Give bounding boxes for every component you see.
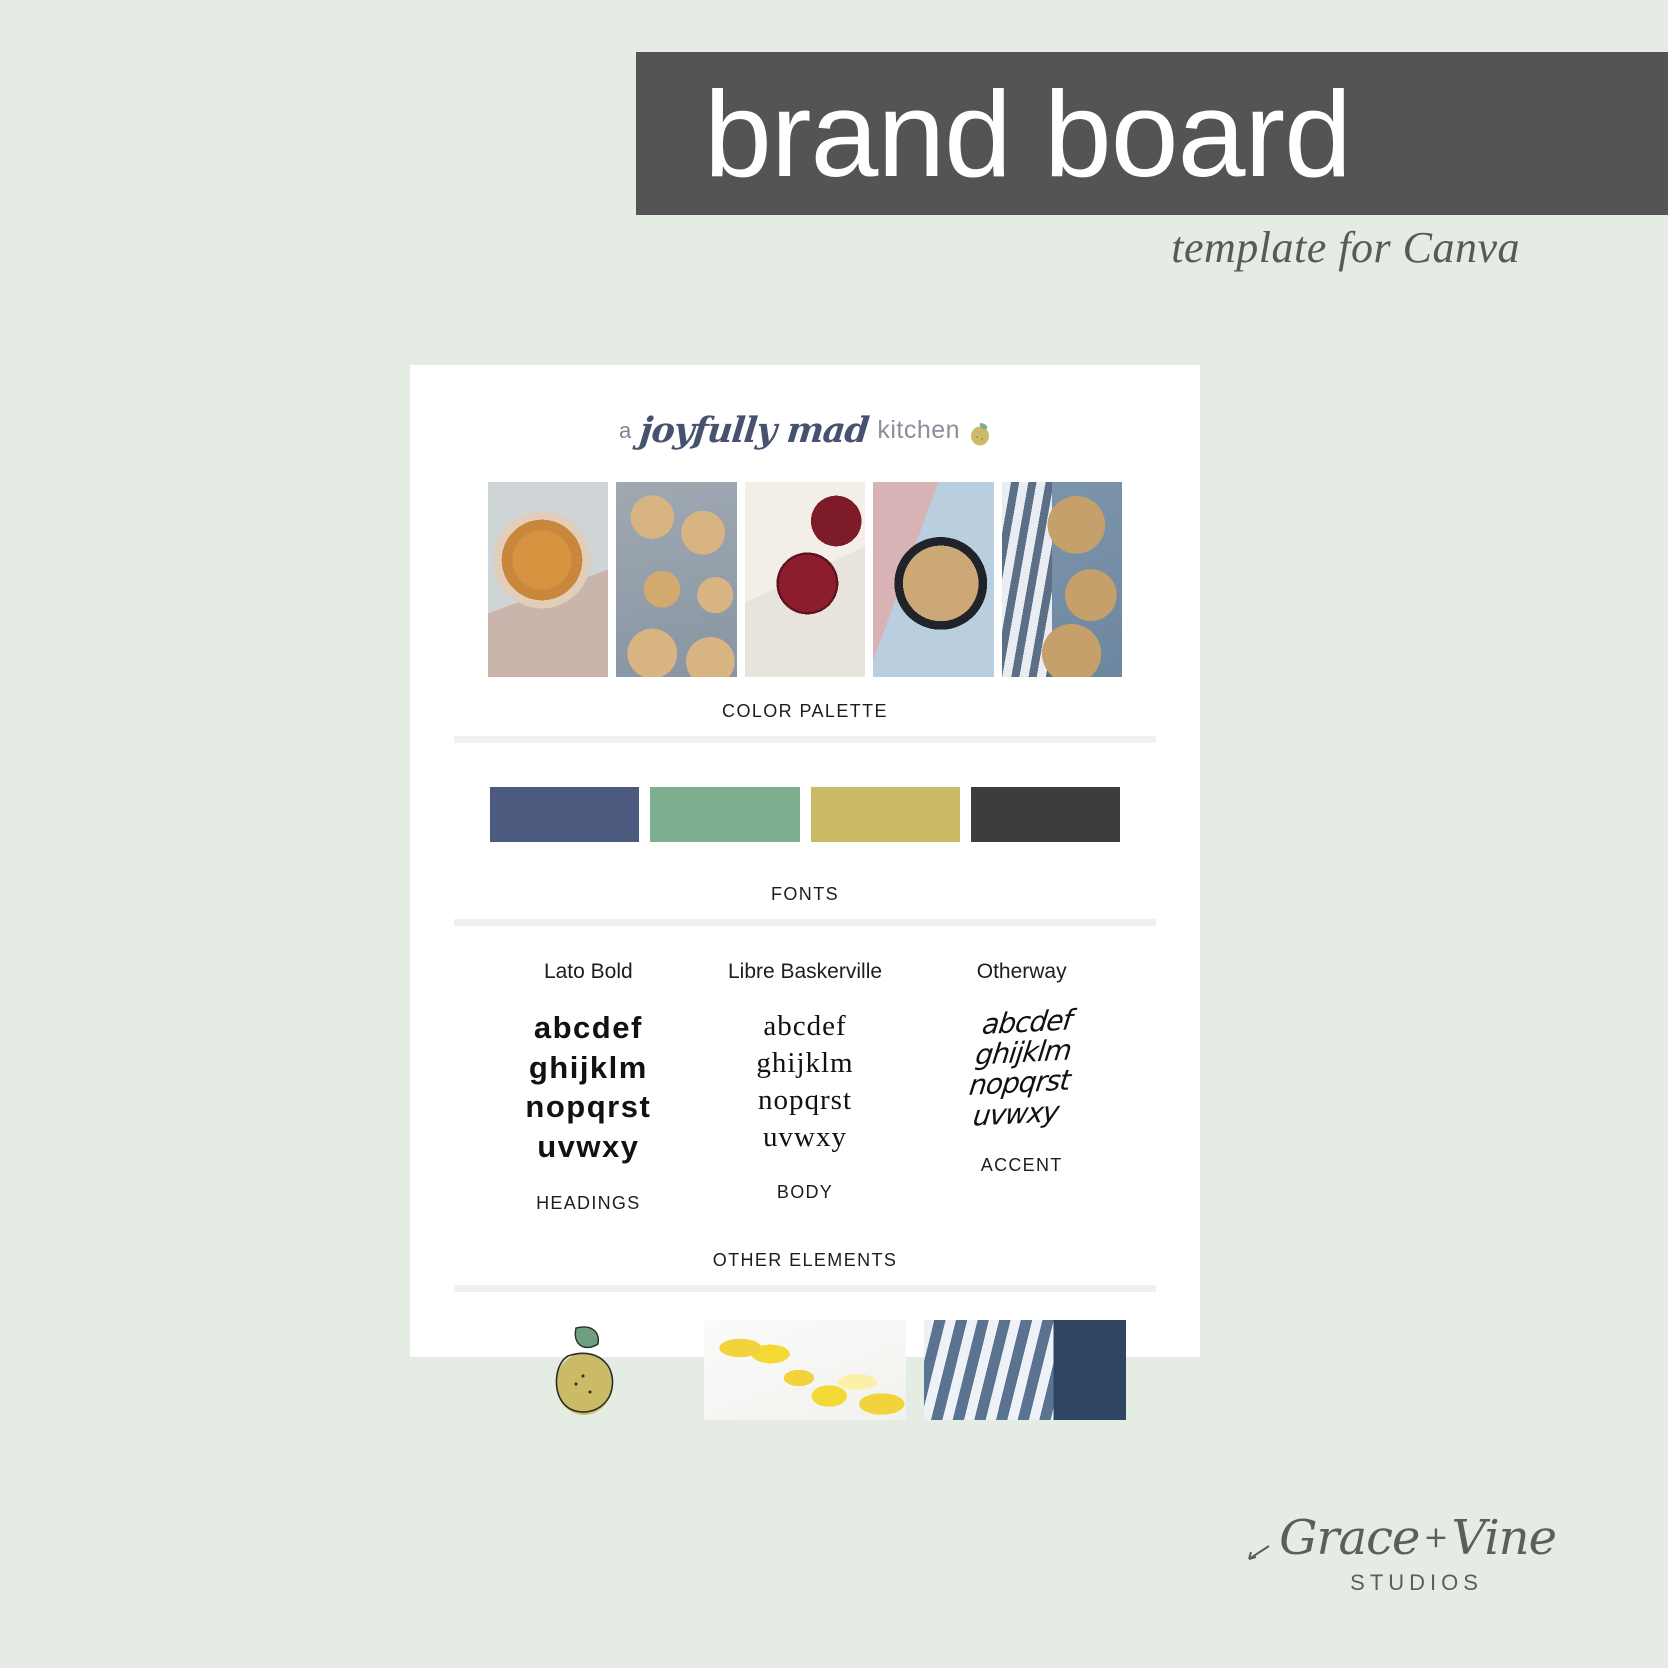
font-column-accent: Otherway abcdef ghijklm nopqrst uvwxy AC… (913, 960, 1130, 1214)
other-elements-heading: OTHER ELEMENTS (454, 1250, 1156, 1271)
brand-board-card: a joyfully mad kitchen COLOR PALETTE F (410, 365, 1200, 1357)
brand-logo-article: a (619, 418, 631, 448)
grace-vine-studios-logo: Grace + Vine STUDIOS (1247, 1514, 1556, 1596)
navy-swatch[interactable] (490, 787, 639, 842)
mulled-drink-photo (745, 482, 865, 677)
brand-board-page: { "header": { "title": "brand board", "s… (0, 0, 1668, 1668)
skillet-bake-photo (873, 482, 993, 677)
page-title: brand board (704, 73, 1351, 195)
other-elements-section: OTHER ELEMENTS (454, 1250, 1156, 1292)
font-sample-line: uvwxy (697, 1119, 914, 1156)
font-name-accent: Otherway (913, 960, 1130, 984)
lemon-illustration-icon (546, 1322, 624, 1418)
lemon-icon (969, 418, 991, 446)
color-palette-section: COLOR PALETTE (454, 701, 1156, 743)
header-banner: brand board (636, 52, 1668, 215)
font-role-headings: HEADINGS (480, 1193, 697, 1214)
pumpkin-pie-photo (488, 482, 608, 677)
lemon-illustration (484, 1320, 686, 1420)
charcoal-swatch[interactable] (971, 787, 1120, 842)
fonts-section: FONTS (454, 884, 1156, 926)
font-sample-line: uvwxy (480, 1127, 697, 1167)
lemons-photo (704, 1320, 906, 1420)
font-sample-body: abcdef ghijklm nopqrst uvwxy (697, 1008, 914, 1156)
brand-logo-suffix: kitchen (877, 416, 960, 448)
muffins-photo (1002, 482, 1122, 677)
font-sample-line: abcdef (480, 1008, 697, 1048)
gv-wordmark: Grace + Vine (1247, 1514, 1556, 1562)
color-palette-divider (454, 736, 1156, 743)
font-name-heading: Lato Bold (480, 960, 697, 984)
brand-logo: a joyfully mad kitchen (454, 402, 1156, 448)
font-column-headings: Lato Bold abcdef ghijklm nopqrst uvwxy H… (480, 960, 697, 1214)
font-sample-line: abcdef (697, 1008, 914, 1045)
font-name-body: Libre Baskerville (697, 960, 914, 984)
color-palette-heading: COLOR PALETTE (454, 701, 1156, 722)
font-column-body: Libre Baskerville abcdef ghijklm nopqrst… (697, 960, 914, 1214)
font-sample-line: ghijklm (697, 1045, 914, 1082)
striped-towel-photo (924, 1320, 1126, 1420)
page-subtitle: template for Canva (1171, 222, 1520, 273)
arrow-icon (1247, 1525, 1273, 1551)
gv-wordmark-first: Grace (1279, 1514, 1419, 1562)
font-sample-heading: abcdef ghijklm nopqrst uvwxy (480, 1008, 697, 1167)
gv-studios-label: STUDIOS (1277, 1570, 1556, 1596)
font-sample-line: nopqrst (480, 1087, 697, 1127)
font-sample-accent: abcdef ghijklm nopqrst uvwxy (906, 1002, 1137, 1135)
font-role-accent: ACCENT (913, 1155, 1130, 1176)
fonts-heading: FONTS (454, 884, 1156, 905)
brand-logo-script: joyfully mad (638, 413, 870, 448)
font-sample-line: nopqrst (697, 1082, 914, 1119)
swatch-row (454, 787, 1156, 842)
other-elements-row (454, 1320, 1156, 1420)
gv-wordmark-second: Vine (1452, 1514, 1557, 1562)
mustard-swatch[interactable] (811, 787, 960, 842)
fonts-grid: Lato Bold abcdef ghijklm nopqrst uvwxy H… (454, 960, 1156, 1214)
sage-swatch[interactable] (650, 787, 799, 842)
fonts-divider (454, 919, 1156, 926)
font-role-body: BODY (697, 1182, 914, 1203)
gv-wordmark-plus: + (1423, 1523, 1447, 1553)
photo-strip (454, 482, 1156, 677)
font-sample-line: ghijklm (480, 1048, 697, 1088)
cookies-photo (616, 482, 736, 677)
other-elements-divider (454, 1285, 1156, 1292)
